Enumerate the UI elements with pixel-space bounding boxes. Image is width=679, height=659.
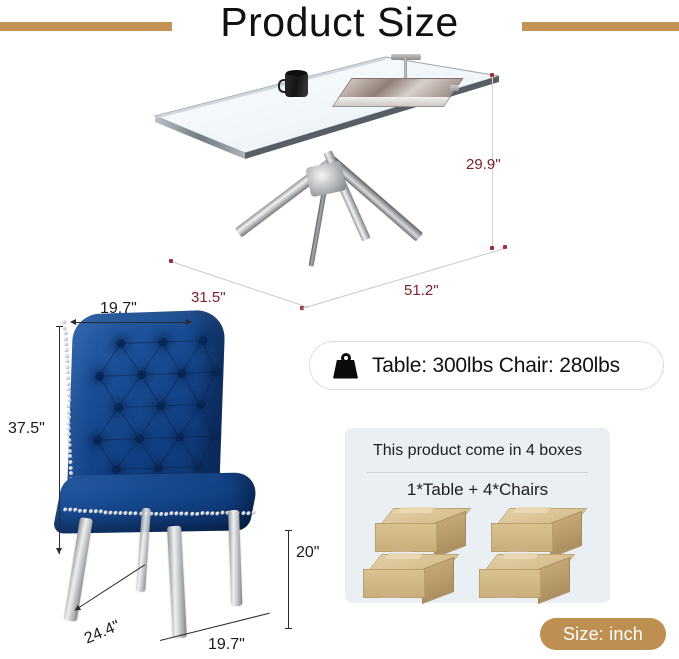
packaging-title: This product come in 4 boxes xyxy=(345,442,610,460)
tufting-seam xyxy=(158,437,180,468)
shipping-carton xyxy=(479,554,577,596)
nailhead-stud xyxy=(67,426,71,430)
nailhead-stud xyxy=(133,511,138,515)
tufting-seam xyxy=(139,437,179,439)
book-prop xyxy=(333,78,462,106)
tufting-seam xyxy=(120,342,162,344)
table-height-dot-bottom xyxy=(490,246,494,250)
chair-seatheight-cap-top xyxy=(285,530,292,531)
nailhead-stud xyxy=(93,509,98,513)
tufting-seam xyxy=(97,407,119,440)
chair-seatheight-dimline xyxy=(288,530,289,628)
nailhead-stud xyxy=(63,331,67,335)
tufting-seam xyxy=(118,374,142,407)
nailhead-stud xyxy=(98,510,103,514)
nailhead-stud xyxy=(67,438,71,442)
nailhead-stud xyxy=(246,511,251,515)
nailhead-stud xyxy=(108,510,113,514)
table-depth-dot-left xyxy=(169,259,173,263)
table-height-dot-top xyxy=(490,73,494,77)
nailhead-stud xyxy=(241,511,246,515)
tufting-seam xyxy=(160,404,200,406)
nailhead-stud xyxy=(103,510,108,514)
nailhead-stud xyxy=(83,509,88,513)
nailhead-stud xyxy=(68,460,72,464)
nailhead-stud xyxy=(67,398,71,402)
nailhead-stud xyxy=(63,507,68,511)
nailhead-stud xyxy=(154,512,159,516)
nailhead-stud xyxy=(66,359,70,363)
tufting-seam xyxy=(116,467,158,469)
nailhead-stud xyxy=(67,393,71,397)
tufting-seam xyxy=(141,373,181,375)
tufting-seam xyxy=(162,342,182,374)
nailhead-stud xyxy=(69,471,73,475)
nailhead-stud xyxy=(66,382,70,386)
tufting-seam xyxy=(139,438,159,468)
size-unit-label: Size: inch xyxy=(563,624,643,645)
size-unit-badge: Size: inch xyxy=(540,618,666,650)
nailhead-stud xyxy=(62,320,66,324)
table-depth-label: 31.5" xyxy=(191,289,226,306)
table-height-label: 29.9" xyxy=(466,156,501,173)
nailhead-stud xyxy=(68,508,73,512)
tufting-seam xyxy=(200,404,214,436)
nailhead-stud xyxy=(179,512,184,516)
chair-seatwidth-label: 19.7" xyxy=(208,636,245,654)
tufting-seam xyxy=(141,342,163,375)
tufting-seam xyxy=(181,373,201,405)
tufting-seam xyxy=(200,372,216,405)
packaging-panel: This product come in 4 boxes 1*Table + 4… xyxy=(345,428,610,603)
nailhead-stud xyxy=(64,342,68,346)
nailhead-stud xyxy=(189,511,194,515)
tufting-seam xyxy=(96,440,116,470)
table-width-label: 51.2" xyxy=(404,282,439,299)
nailhead-stud xyxy=(68,454,72,458)
nailhead-stud xyxy=(169,512,174,516)
tufting-seam xyxy=(99,376,119,408)
tufting-seam xyxy=(160,406,180,438)
chair-seatheight-cap-bottom xyxy=(285,628,292,629)
nailhead-stud xyxy=(174,512,179,516)
nailhead-stud xyxy=(251,511,256,515)
chair-leg-front-right xyxy=(167,526,187,639)
nailhead-stud xyxy=(210,511,215,515)
shipping-carton xyxy=(363,554,461,596)
nailhead-stud xyxy=(205,511,210,515)
tufting-seam xyxy=(179,436,213,438)
nailhead-stud xyxy=(67,443,71,447)
chair-height-arrow-bottom xyxy=(56,548,62,554)
tufting-seam xyxy=(139,406,161,439)
nailhead-stud xyxy=(64,337,68,341)
nailhead-stud xyxy=(67,410,71,414)
header: Product Size xyxy=(0,0,679,52)
nailhead-stud xyxy=(220,511,225,515)
table-illustration xyxy=(95,52,525,267)
tufting-seam xyxy=(179,404,201,437)
nailhead-stud xyxy=(67,387,71,391)
tufting-seam xyxy=(158,466,198,468)
nailhead-stud xyxy=(68,466,72,470)
nailhead-stud xyxy=(200,511,205,515)
tufting-seam xyxy=(198,436,214,467)
table-width-dot-right xyxy=(503,245,507,249)
tufting-seam xyxy=(162,340,202,342)
chair-backwidth-arrow-left xyxy=(70,319,76,325)
nailhead-stud xyxy=(67,449,71,453)
page-title: Product Size xyxy=(0,0,679,46)
tufting-seam xyxy=(181,372,215,374)
packaging-subtitle: 1*Table + 4*Chairs xyxy=(345,480,610,500)
tufting-seam xyxy=(202,340,216,372)
nailhead-stud xyxy=(118,511,123,515)
nailhead-stud xyxy=(195,511,200,515)
chair-illustration xyxy=(52,312,307,630)
nailhead-stud xyxy=(113,511,118,515)
tufting-seam xyxy=(99,374,141,376)
nailhead-stud xyxy=(67,432,71,436)
carton-grid xyxy=(363,508,592,596)
nailhead-stud xyxy=(66,370,70,374)
chair-backwidth-label: 19.7" xyxy=(100,300,137,318)
product-size-infographic: Product Size xyxy=(0,0,679,659)
chair-height-dimline xyxy=(59,326,60,554)
table-fitting xyxy=(450,85,459,91)
tufting-seam xyxy=(120,343,142,375)
nailhead-stud xyxy=(67,415,71,419)
glass-tabletop xyxy=(95,52,525,267)
tufting-seam xyxy=(181,340,203,373)
nailhead-stud xyxy=(65,354,69,358)
chair-seatheight-label: 20" xyxy=(296,544,319,562)
tufting-seam xyxy=(141,374,161,406)
tufting-seam xyxy=(116,438,140,469)
chair-backwidth-arrow-right xyxy=(186,319,192,325)
nailhead-stud xyxy=(215,511,220,515)
chair-height-cap-top xyxy=(56,326,63,327)
nailhead-stud xyxy=(184,512,189,516)
nailhead-stud xyxy=(66,376,70,380)
tufting-seam xyxy=(99,343,121,376)
nailhead-stud xyxy=(63,326,67,330)
nailhead-stud xyxy=(164,512,169,516)
weight-capacity-label: Table: 300lbs Chair: 280lbs xyxy=(372,354,620,378)
weight-icon xyxy=(332,353,359,379)
nailhead-stud xyxy=(66,365,70,369)
mug-prop xyxy=(285,73,308,97)
chair-backwidth-dimline xyxy=(72,322,190,323)
packaging-divider xyxy=(367,472,588,473)
tufting-seam xyxy=(97,438,139,440)
tufting-seam xyxy=(118,407,140,439)
shipping-carton xyxy=(491,508,589,550)
nailhead-stud xyxy=(67,421,71,425)
weight-capacity-box: Table: 300lbs Chair: 280lbs xyxy=(309,341,664,390)
tufting-seam xyxy=(160,373,182,406)
tufting-seam xyxy=(179,437,199,467)
nailhead-stud xyxy=(88,509,93,513)
tufting-seam xyxy=(118,406,160,408)
nailhead-stud xyxy=(159,512,164,516)
shipping-carton xyxy=(375,508,473,550)
chair-height-label: 37.5" xyxy=(8,420,45,438)
nailhead-stud xyxy=(67,404,71,408)
nailhead-stud xyxy=(65,348,69,352)
